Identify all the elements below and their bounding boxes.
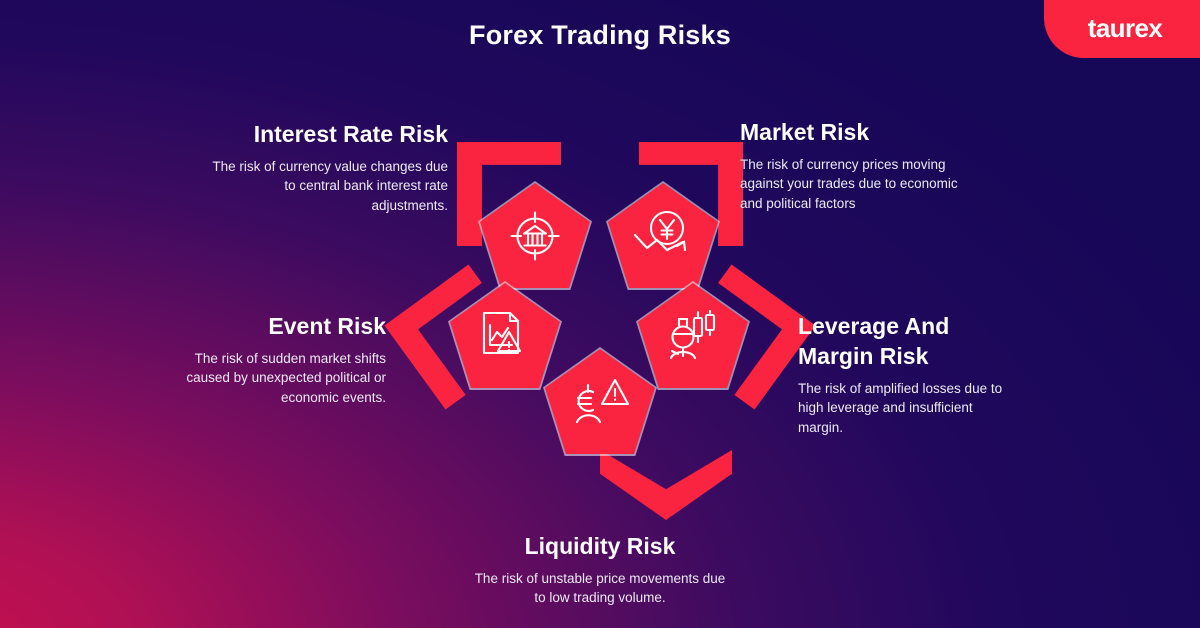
risk-block-market-risk: Market Risk The risk of currency prices … [740, 118, 980, 214]
risk-title: Market Risk [740, 118, 980, 148]
risk-title: Interest Rate Risk [208, 120, 448, 150]
risk-block-event-risk: Event Risk The risk of sudden market shi… [172, 312, 386, 408]
yen-declining-arrow-icon [608, 183, 718, 288]
taurex-logo: taurex [1044, 0, 1200, 58]
risk-block-interest-rate-risk: Interest Rate Risk The risk of currency … [208, 120, 448, 216]
infographic-canvas: Forex Trading Risks taurex [0, 0, 1200, 628]
risk-title: Liquidity Risk [470, 532, 730, 562]
risk-description: The risk of unstable price movements due… [470, 569, 730, 608]
document-chart-warning-icon [450, 283, 560, 388]
logo-wordmark: taurex [1088, 13, 1162, 44]
risk-title: Leverage And Margin Risk [798, 312, 1020, 372]
euro-person-warning-icon [545, 349, 655, 454]
page-title: Forex Trading Risks [0, 20, 1200, 51]
bracket-liquidity [600, 450, 732, 520]
bank-target-icon [480, 183, 590, 288]
risk-title: Event Risk [172, 312, 386, 342]
risk-description: The risk of sudden market shifts caused … [172, 349, 386, 408]
risk-description: The risk of currency prices moving again… [740, 155, 980, 214]
risk-block-liquidity-risk: Liquidity Risk The risk of unstable pric… [470, 532, 730, 608]
risk-description: The risk of currency value changes due t… [208, 157, 448, 216]
risk-block-leverage-and-margin-risk: Leverage And Margin Risk The risk of amp… [798, 312, 1020, 437]
risk-description: The risk of amplified losses due to high… [798, 379, 1020, 438]
